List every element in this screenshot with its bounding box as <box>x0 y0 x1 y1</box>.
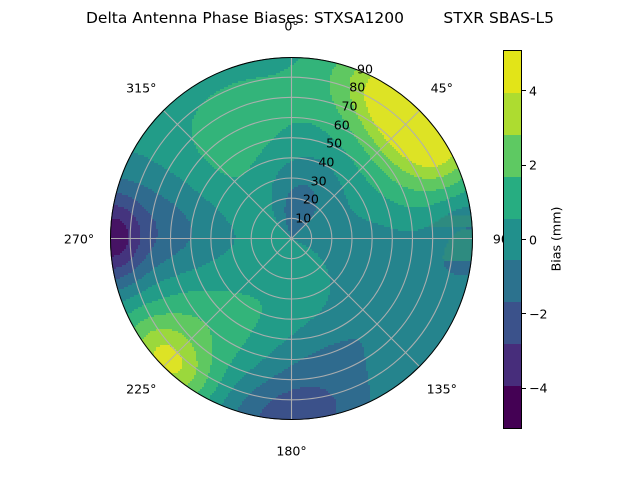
colorbar-tick-mark <box>522 239 526 240</box>
radial-tick-label: 60 <box>334 117 350 132</box>
colorbar-band <box>504 93 521 135</box>
radial-tick-label: 10 <box>295 210 311 225</box>
radial-tick-label: 40 <box>318 154 334 169</box>
angular-tick-label: 45° <box>431 81 453 96</box>
colorbar-tick-mark <box>522 90 526 91</box>
colorbar-band <box>504 344 521 386</box>
colorbar-band <box>504 260 521 302</box>
radial-tick-label: 90 <box>357 61 373 76</box>
colorbar[interactable] <box>503 50 522 429</box>
angular-tick-label: 0° <box>284 19 298 34</box>
figure-canvas: Delta Antenna Phase Biases: STXSA1200 ST… <box>0 0 640 480</box>
angular-tick-label: 180° <box>276 444 306 459</box>
polar-axes[interactable] <box>110 57 473 420</box>
colorbar-band <box>504 386 521 428</box>
radial-tick-label: 50 <box>326 136 342 151</box>
colorbar-tick-label: −4 <box>529 381 548 396</box>
angular-tick-label: 315° <box>126 81 156 96</box>
colorbar-band <box>504 135 521 177</box>
colorbar-tick-mark <box>522 313 526 314</box>
polar-data-disc <box>110 57 473 420</box>
colorbar-axis-label: Bias (mm) <box>549 207 564 272</box>
colorbar-tick-mark <box>522 388 526 389</box>
angular-tick-label: 135° <box>427 381 457 396</box>
angular-tick-label: 225° <box>126 381 156 396</box>
chart-title: Delta Antenna Phase Biases: STXSA1200 ST… <box>0 9 640 27</box>
colorbar-tick-label: 0 <box>529 232 537 247</box>
radial-tick-label: 30 <box>311 173 327 188</box>
colorbar-band <box>504 177 521 219</box>
angular-tick-label: 270° <box>64 231 94 246</box>
colorbar-tick-mark <box>522 165 526 166</box>
colorbar-band <box>504 219 521 261</box>
radial-tick-label: 20 <box>303 192 319 207</box>
colorbar-tick-label: −2 <box>529 306 548 321</box>
colorbar-band <box>504 302 521 344</box>
polar-grid <box>110 57 473 420</box>
colorbar-band <box>504 51 521 93</box>
radial-tick-label: 80 <box>349 80 365 95</box>
colorbar-tick-label: 4 <box>529 83 537 98</box>
colorbar-tick-label: 2 <box>529 158 537 173</box>
radial-tick-label: 70 <box>342 99 358 114</box>
